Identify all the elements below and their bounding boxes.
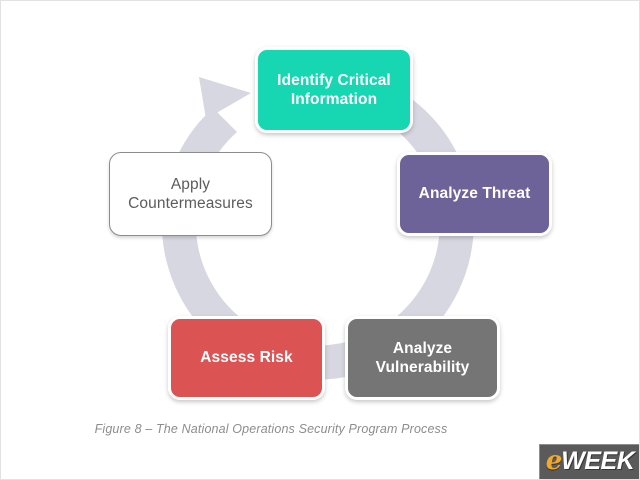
process-node-label: Assess Risk bbox=[200, 348, 292, 367]
eweek-logo-watermark: e WEEK bbox=[539, 444, 640, 479]
process-node-analyze-threat[interactable]: Analyze Threat bbox=[397, 152, 552, 236]
eweek-logo-e-mark: e bbox=[546, 448, 563, 474]
process-node-apply-countermeasures[interactable]: Apply Countermeasures bbox=[109, 152, 272, 236]
eweek-logo-wordmark: WEEK bbox=[561, 449, 634, 474]
process-node-label: Apply Countermeasures bbox=[128, 175, 253, 213]
process-node-label: Analyze Threat bbox=[419, 184, 531, 203]
figure-caption: Figure 8 – The National Operations Secur… bbox=[1, 422, 541, 436]
process-node-label: Analyze Vulnerability bbox=[376, 339, 470, 377]
process-node-assess-risk[interactable]: Assess Risk bbox=[168, 316, 325, 400]
figure-canvas: Identify Critical Information Analyze Th… bbox=[0, 0, 640, 480]
ring-arrowhead bbox=[199, 77, 251, 119]
process-node-label: Identify Critical Information bbox=[277, 71, 391, 109]
eweek-logo-inner: e WEEK bbox=[546, 448, 635, 474]
process-node-analyze-vulnerability[interactable]: Analyze Vulnerability bbox=[345, 316, 500, 400]
process-node-identify-critical-information[interactable]: Identify Critical Information bbox=[255, 47, 413, 133]
